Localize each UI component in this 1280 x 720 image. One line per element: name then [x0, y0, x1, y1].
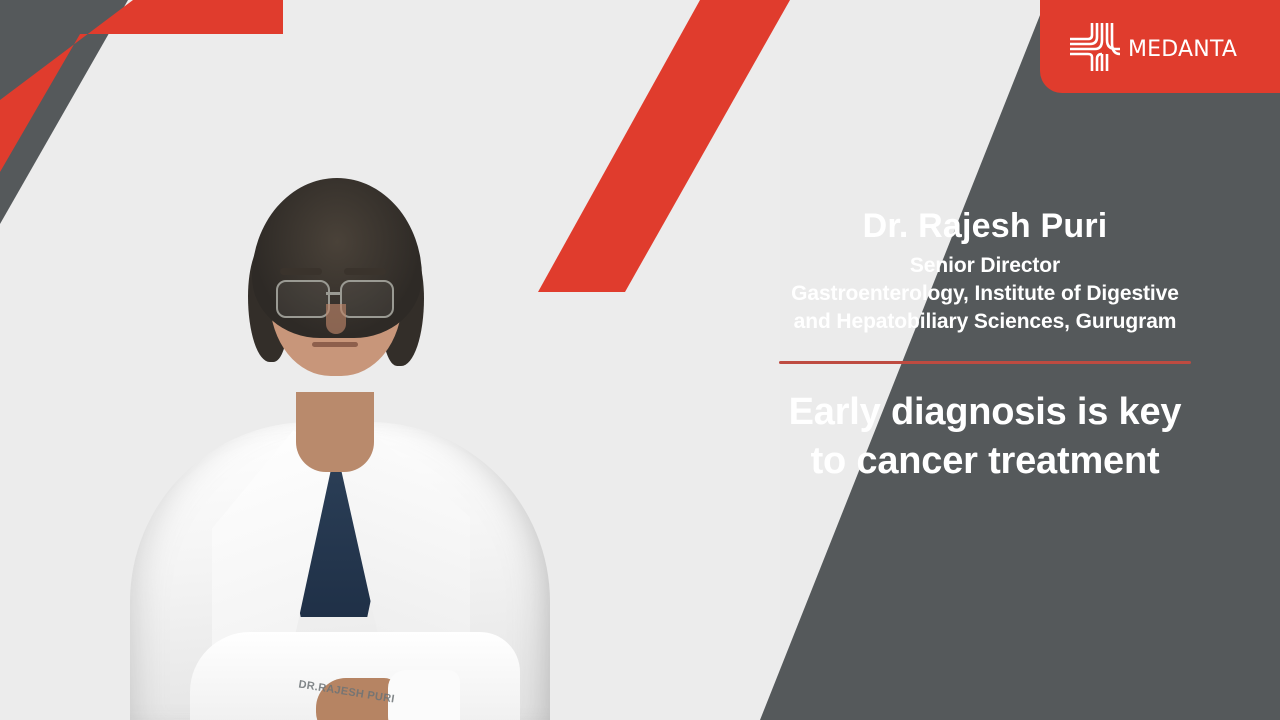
portrait-eyeglass-lens-right: [340, 280, 394, 318]
portrait-eyeglass-bridge: [326, 292, 340, 295]
medanta-cross-icon: [1068, 21, 1120, 73]
portrait-eyebrow-left: [280, 268, 322, 275]
video-title-card: DR.RAJESH PURI medanta Dr. Rajesh Puri S…: [0, 0, 1280, 720]
doctor-department-line-2: and Hepatobiliary Sciences, Gurugram: [700, 308, 1270, 336]
brand-wordmark: medanta: [1128, 31, 1237, 62]
portrait-eyeglass-lens-left: [276, 280, 330, 318]
headline: Early diagnosis is keyto cancer treatmen…: [700, 388, 1270, 485]
portrait-neck: [296, 392, 374, 472]
headline-line-2: to cancer treatment: [811, 440, 1160, 482]
section-divider: [779, 361, 1191, 364]
doctor-title: Senior Director: [700, 252, 1270, 280]
portrait-sleeve-cuff: [388, 670, 460, 720]
portrait-nose: [326, 304, 346, 334]
headline-line-1: Early diagnosis is key: [789, 391, 1182, 433]
doctor-portrait: DR.RAJESH PURI: [120, 92, 560, 720]
doctor-department-line-1: Gastroenterology, Institute of Digestive: [700, 280, 1270, 308]
speaker-text-block: Dr. Rajesh Puri Senior Director Gastroen…: [700, 206, 1270, 486]
portrait-mouth: [312, 342, 358, 347]
brand-logo-plate: medanta: [1040, 0, 1280, 93]
portrait-eyebrow-right: [344, 268, 386, 275]
doctor-name: Dr. Rajesh Puri: [700, 206, 1270, 246]
